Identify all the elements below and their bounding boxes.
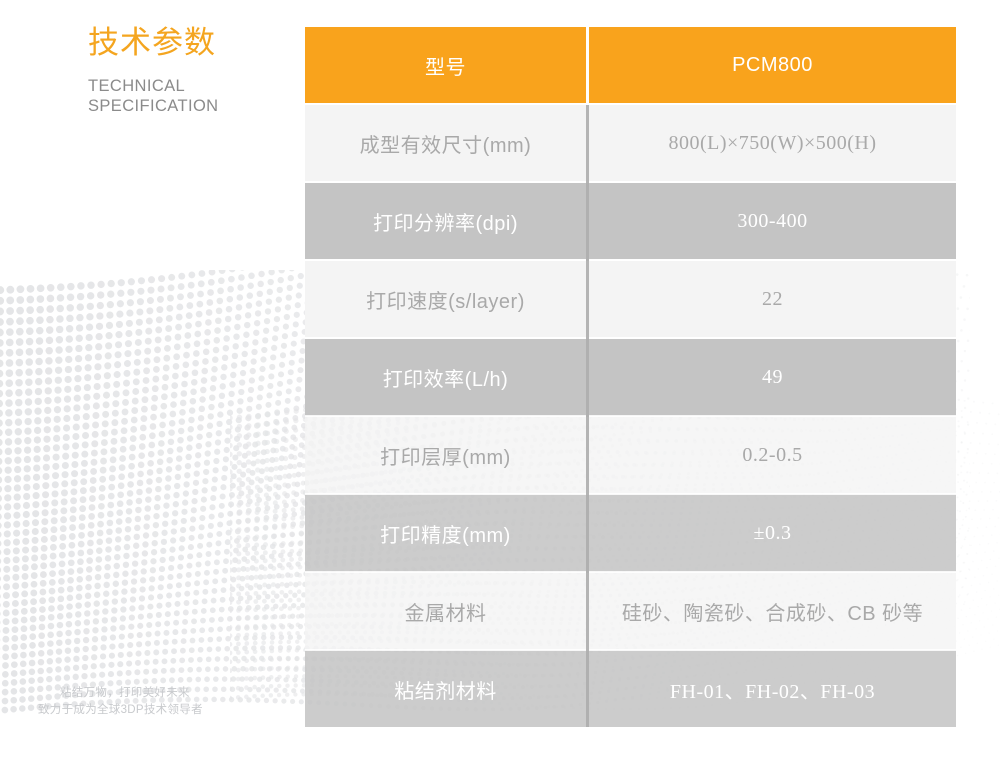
row-value: 0.2-0.5 [588, 416, 957, 494]
header-cell-value: PCM800 [588, 27, 957, 104]
row-label: 打印分辨率(dpi) [305, 182, 588, 260]
spec-sheet-page: 技术参数 TECHNICAL SPECIFICATION 型号 PCM800 成… [0, 0, 1000, 761]
table-row: 打印分辨率(dpi) 300-400 [305, 182, 956, 260]
table-row: 打印层厚(mm) 0.2-0.5 [305, 416, 956, 494]
row-label: 打印层厚(mm) [305, 416, 588, 494]
page-subtitle: TECHNICAL SPECIFICATION [88, 76, 219, 116]
row-value: ±0.3 [588, 494, 957, 572]
row-label: 打印速度(s/layer) [305, 260, 588, 338]
table-row: 粘结剂材料 FH-01、FH-02、FH-03 [305, 650, 956, 727]
row-label: 金属材料 [305, 572, 588, 650]
subtitle-line-2: SPECIFICATION [88, 96, 219, 116]
specification-table-body: 型号 PCM800 成型有效尺寸(mm) 800(L)×750(W)×500(H… [305, 27, 956, 727]
row-label: 打印效率(L/h) [305, 338, 588, 416]
row-value: 300-400 [588, 182, 957, 260]
row-value: 800(L)×750(W)×500(H) [588, 104, 957, 182]
header-cell-label: 型号 [305, 27, 588, 104]
row-label: 打印精度(mm) [305, 494, 588, 572]
table-row: 金属材料 硅砂、陶瓷砂、合成砂、CB 砂等 [305, 572, 956, 650]
row-value: 22 [588, 260, 957, 338]
table-header-row: 型号 PCM800 [305, 27, 956, 104]
company-tagline: 粘结万物，打印美好未来 致力于成为全球3DP技术领导者 [60, 685, 203, 719]
row-label: 粘结剂材料 [305, 650, 588, 727]
page-title: 技术参数 [88, 24, 219, 62]
row-value: 硅砂、陶瓷砂、合成砂、CB 砂等 [588, 572, 957, 650]
specification-table: 型号 PCM800 成型有效尺寸(mm) 800(L)×750(W)×500(H… [305, 27, 956, 727]
tagline-line-2: 致力于成为全球3DP技术领导者 [38, 702, 203, 719]
row-value: 49 [588, 338, 957, 416]
subtitle-line-1: TECHNICAL [88, 76, 219, 96]
tagline-line-1: 粘结万物，打印美好未来 [60, 685, 203, 702]
table-row: 打印速度(s/layer) 22 [305, 260, 956, 338]
table-row: 打印效率(L/h) 49 [305, 338, 956, 416]
heading-block: 技术参数 TECHNICAL SPECIFICATION [88, 24, 219, 116]
table-row: 打印精度(mm) ±0.3 [305, 494, 956, 572]
row-label: 成型有效尺寸(mm) [305, 104, 588, 182]
row-value: FH-01、FH-02、FH-03 [588, 650, 957, 727]
table-row: 成型有效尺寸(mm) 800(L)×750(W)×500(H) [305, 104, 956, 182]
